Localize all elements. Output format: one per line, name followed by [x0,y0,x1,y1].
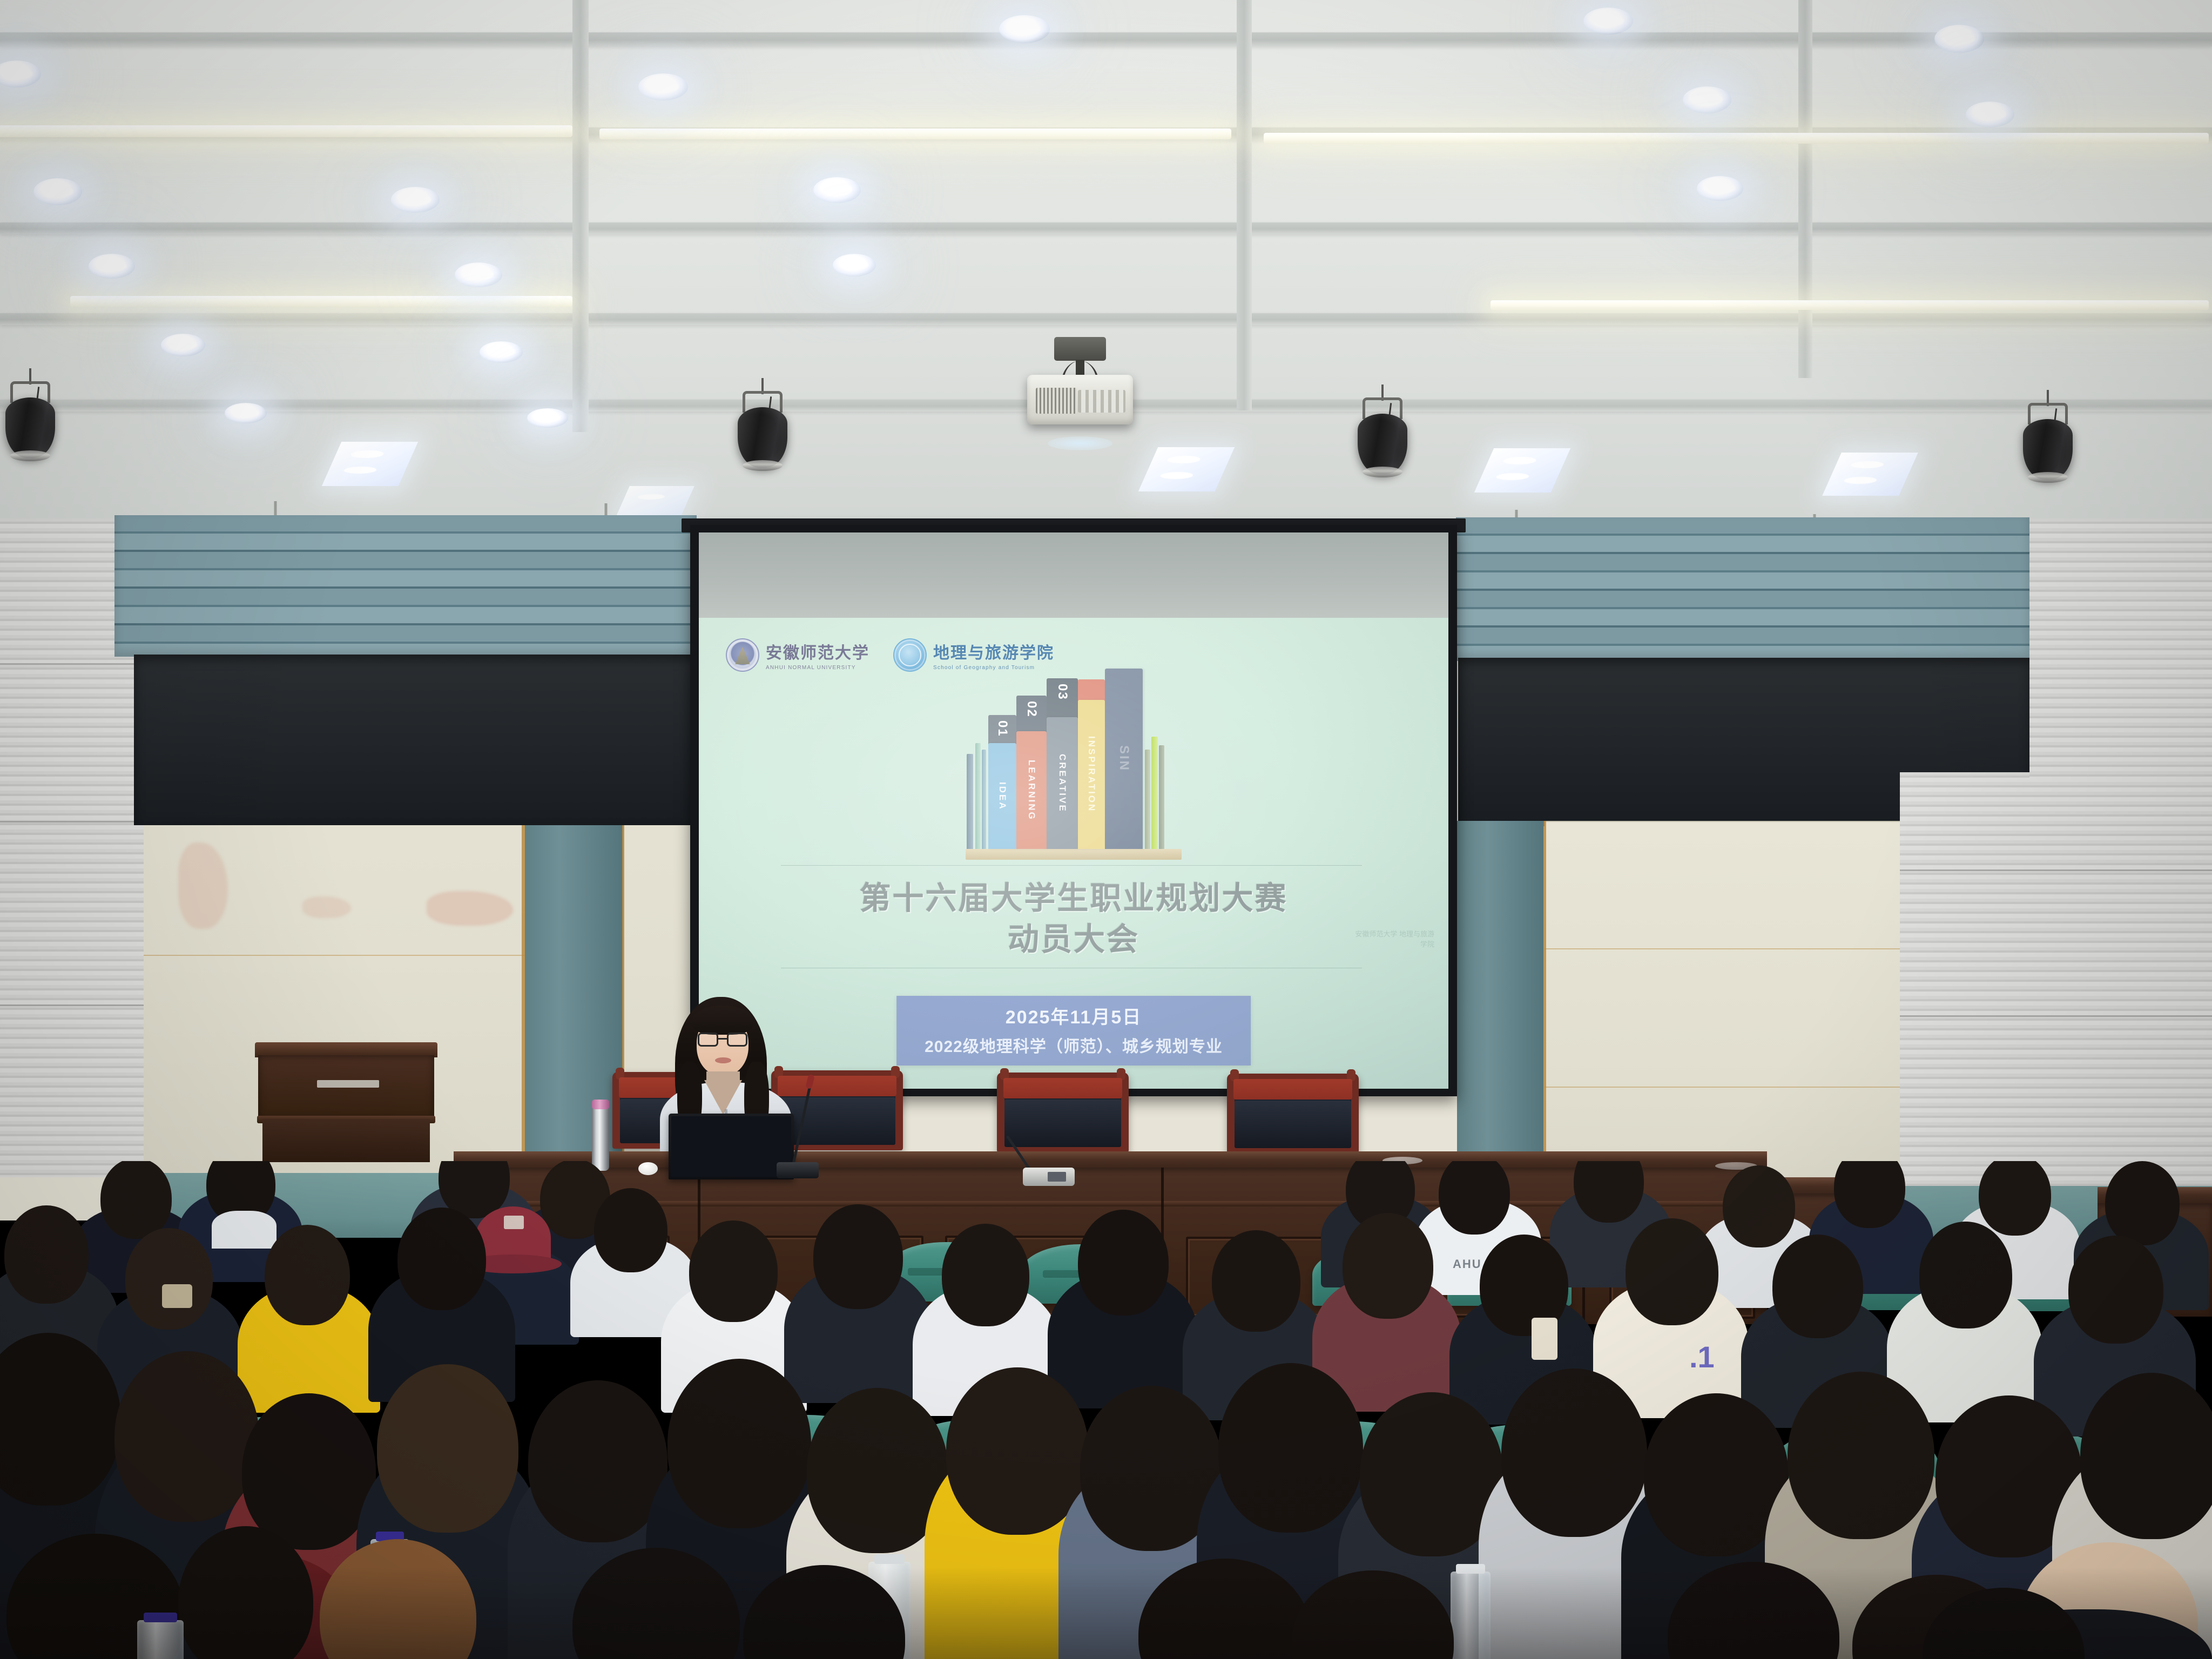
audience-head [813,1204,903,1309]
maroon-baseball-cap [475,1206,551,1270]
thin-book-decor [982,750,986,849]
book-label: LEARNING [1026,760,1037,821]
thin-book-decor [967,754,973,849]
logo-anhui-normal-university: 安徽师范大学 ANHUI NORMAL UNIVERSITY [726,638,869,672]
audience-head [1979,1161,2051,1236]
recessed-downlight [833,254,876,276]
book-label: INSPIRATION [1086,736,1097,812]
book-idea: IDEA [988,743,1016,849]
stage-spotlight [2015,390,2080,498]
presenter-glasses-icon [698,1033,747,1047]
audience-head [594,1188,667,1272]
audience-head [1501,1368,1647,1537]
anhui-normal-university-seal-icon [726,638,759,672]
audience-head [1439,1161,1510,1235]
book-sin: SIN [1105,669,1143,849]
ceiling [0,0,2212,529]
slide-audience-label: 2022级地理科学（师范）、城乡规划专业 [925,1033,1223,1057]
recessed-downlight [1934,25,1984,53]
audience-head [242,1393,376,1550]
book-label: CREATIVE [1057,754,1068,813]
stage-spotlight [1350,385,1415,493]
bookshelf-board [966,849,1182,860]
audience-head [4,1205,89,1304]
presentation-slide: 安徽师范大学 ANHUI NORMAL UNIVERSITY 地理与旅游学院 S… [699,618,1448,1089]
logo-text-cn: 地理与旅游学院 [933,639,1054,663]
audience-head [1626,1218,1718,1325]
audience-head [1078,1210,1169,1316]
linear-fluorescent-strip [0,125,572,137]
slide-corner-note: 安徽师范大学 地理与旅游学院 [1353,929,1434,950]
recessed-downlight [1697,176,1743,201]
recessed-downlight [0,60,41,87]
angled-recessed-fixture [1822,453,1918,496]
audience-head [100,1161,172,1239]
slide-title-line1: 第十六届大学生职业规划大赛 [699,873,1448,918]
bookstack-illustration: 01 IDEA 02 LEARNING 03 CREATIVE [960,670,1187,860]
recessed-downlight [161,334,205,356]
book-inspiration: INSPIRATION [1078,700,1105,849]
linear-fluorescent-strip [1264,133,2209,144]
angled-recessed-fixture [1138,447,1235,491]
slide-logo-row: 安徽师范大学 ANHUI NORMAL UNIVERSITY 地理与旅游学院 S… [726,638,1054,672]
recessed-downlight [527,408,568,428]
audience-head [1772,1235,1863,1338]
thin-book-decor [1151,737,1158,849]
audience-head [1919,1222,2012,1328]
teal-slat-panel-right [1456,517,2029,661]
clear-water-bottle[interactable] [137,1620,184,1659]
screen-surface: 安徽师范大学 ANHUI NORMAL UNIVERSITY 地理与旅游学院 S… [699,532,1448,1089]
linear-fluorescent-strip [1491,300,2209,310]
audience-head [667,1359,811,1528]
audience-head [1212,1230,1300,1332]
audience-head [1788,1372,1934,1539]
recessed-downlight [1966,102,2014,127]
book-label: SIN [1116,745,1131,772]
audience-head [689,1220,778,1322]
audience-head [946,1367,1089,1535]
audience-head [1834,1161,1905,1228]
recessed-downlight [33,178,82,205]
recessed-downlight [225,403,267,423]
recessed-downlight [89,254,135,279]
audience-head [528,1380,667,1542]
school-of-geography-and-tourism-seal-icon [893,638,927,672]
stage-spotlight [0,368,63,476]
logo-text-cn: 安徽师范大学 [766,639,869,663]
slide-title-line2: 动员大会 [699,914,1448,959]
audience-head [1343,1213,1433,1319]
logo-school-of-geography-and-tourism: 地理与旅游学院 School of Geography and Tourism [893,638,1054,672]
audience-head [2068,1236,2163,1344]
recessed-downlight [455,262,502,287]
angled-recessed-fixture [1474,448,1571,493]
audience: AHU [0,1161,2212,1659]
audience-head [125,1228,213,1330]
auditorium-scene: 安徽师范大学 ANHUI NORMAL UNIVERSITY 地理与旅游学院 S… [0,0,2212,1659]
audience-head [2105,1161,2180,1245]
thin-book-decor [1159,745,1164,849]
recessed-downlight [1583,8,1633,35]
slide-date-box: 2025年11月5日 2022级地理科学（师范）、城乡规划专业 [896,996,1251,1065]
book-creative: CREATIVE [1047,717,1078,849]
dark-acoustic-panel-left [134,655,696,825]
linear-fluorescent-strip [599,129,1231,139]
recessed-downlight [391,187,440,213]
audience-head [265,1225,350,1325]
ceiling-projector [1021,337,1139,445]
audience-head [942,1224,1029,1326]
slide-date: 2025年11月5日 [1006,1002,1142,1029]
hair-clip [1532,1318,1557,1360]
hoodie-print-graphic: .1 [1689,1339,1723,1387]
stage-spotlight [730,378,795,486]
screen-blank-band [699,532,1448,618]
hair-clip [162,1284,192,1308]
gray-ribbed-wall-right [1900,772,2212,1211]
clear-water-bottle[interactable] [1451,1572,1491,1659]
recessed-downlight [638,73,688,100]
audience-head [377,1364,518,1533]
thin-book-decor [1145,750,1150,849]
audience-head [397,1208,486,1310]
book-learning: LEARNING [1016,731,1047,849]
gray-ribbed-wall-far-right [2029,518,2212,778]
rostrum-chair[interactable] [1227,1074,1359,1154]
audience-head [2080,1373,2212,1539]
recessed-downlight [813,177,861,203]
linear-fluorescent-strip [70,296,572,307]
thin-book-decor [975,743,981,849]
recessed-downlight [999,15,1050,43]
podium-nameplate-slot [317,1080,379,1088]
recessed-downlight [480,341,523,363]
book-label: IDEA [997,782,1008,811]
recessed-downlight [1683,86,1731,113]
angled-recessed-fixture [322,442,419,486]
audience-head [1218,1363,1363,1533]
audience-head [114,1351,259,1522]
audience-head [1723,1165,1795,1247]
angled-recessed-fixture [615,486,694,520]
teal-slat-panel-left [114,515,697,657]
logo-text-en: ANHUI NORMAL UNIVERSITY [766,665,869,671]
white-jacket-shoulder [212,1211,276,1249]
